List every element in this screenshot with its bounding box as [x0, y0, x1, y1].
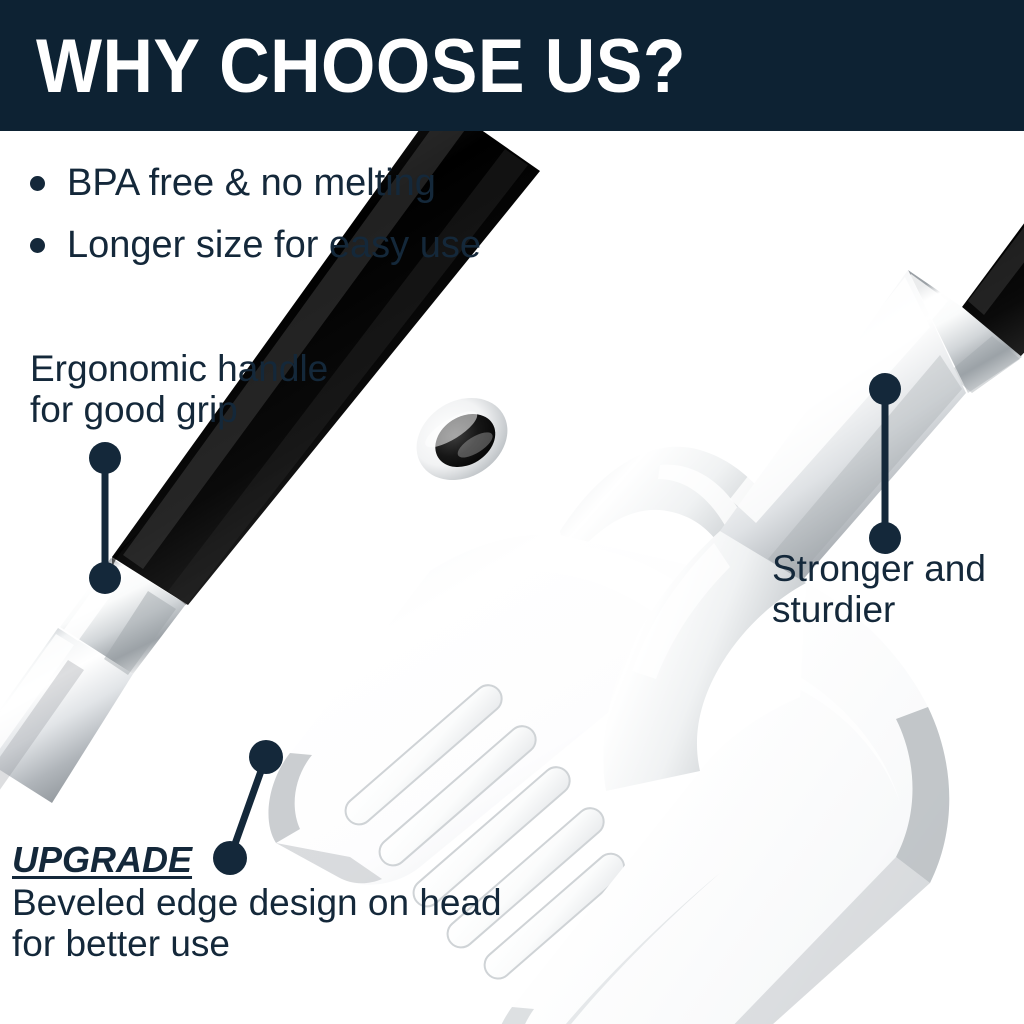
upgrade-kicker-label: UPGRADE — [12, 838, 502, 882]
bullet-dot-icon — [30, 238, 45, 253]
callout-stronger-sturdier: Stronger and sturdier — [772, 548, 986, 630]
callout-line: Ergonomic handle — [30, 348, 328, 389]
list-item: Longer size for easy use — [30, 214, 481, 276]
callout-line: for better use — [12, 923, 502, 964]
bullet-label: BPA free & no melting — [67, 161, 436, 205]
callout-line: Stronger and — [772, 548, 986, 589]
infographic-canvas: WHY CHOOSE US? — [0, 0, 1024, 1024]
feature-bullet-list: BPA free & no melting Longer size for ea… — [30, 152, 481, 276]
callout-ergonomic-handle: Ergonomic handle for good grip — [30, 348, 328, 430]
header-banner: WHY CHOOSE US? — [0, 0, 1024, 131]
bullet-dot-icon — [30, 176, 45, 191]
hanging-hole-ring — [401, 381, 523, 496]
callout-line: Beveled edge design on head — [12, 882, 502, 923]
list-item: BPA free & no melting — [30, 152, 481, 214]
steel-shaft-right — [720, 270, 966, 583]
callout-line: sturdier — [772, 589, 986, 630]
page-title: WHY CHOOSE US? — [36, 27, 686, 107]
callout-line: for good grip — [30, 389, 328, 430]
bullet-label: Longer size for easy use — [67, 223, 481, 267]
callout-upgrade-beveled-edge: UPGRADE Beveled edge design on head for … — [12, 838, 502, 964]
